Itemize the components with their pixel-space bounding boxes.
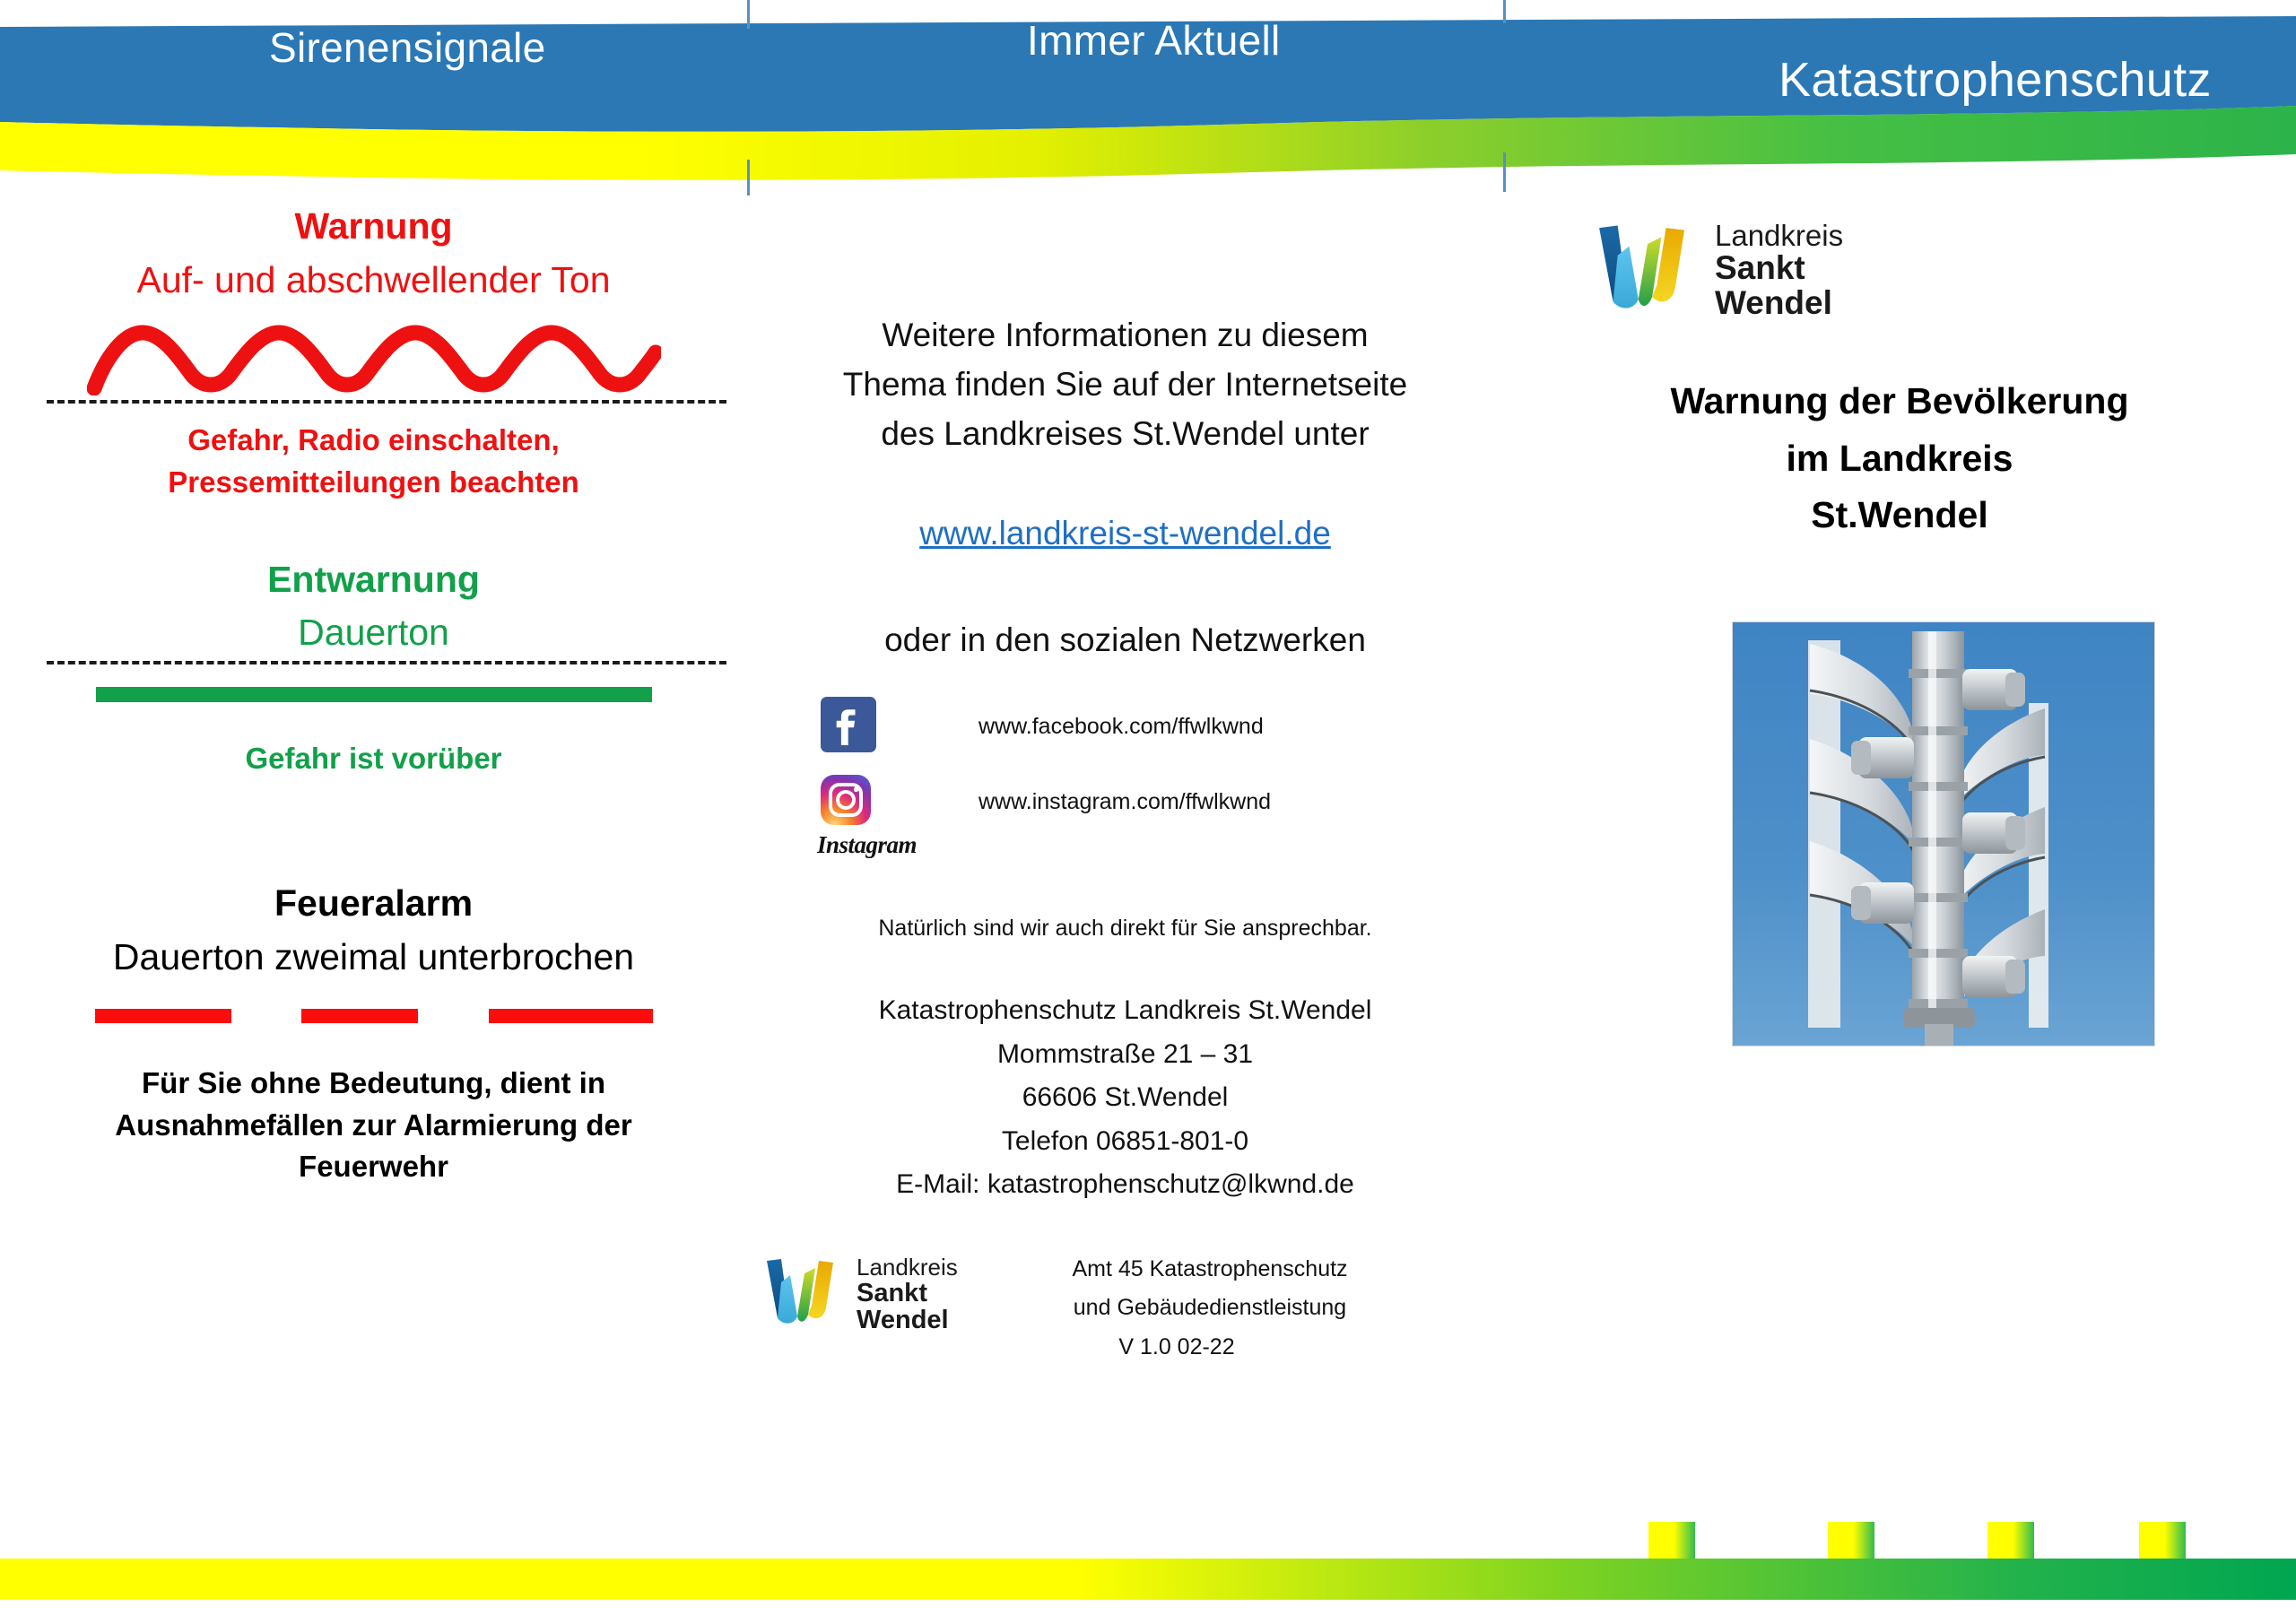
siren-photo bbox=[1732, 621, 2155, 1046]
red-sine-wave-graphic bbox=[0, 324, 747, 400]
logo-line-landkreis: Landkreis bbox=[857, 1255, 958, 1280]
signal-desc-feueralarm-l1: Für Sie ohne Bedeutung, dient in bbox=[0, 1063, 747, 1105]
signal-title-feueralarm: Feueralarm bbox=[0, 881, 747, 925]
right-column-cover: Landkreis Sankt Wendel Warnung der Bevöl… bbox=[1503, 188, 2296, 544]
address-line-city: 66606 St.Wendel bbox=[747, 1076, 1503, 1120]
instagram-icon[interactable] bbox=[821, 775, 871, 829]
info-lead-line-3: des Landkreises St.Wendel unter bbox=[747, 410, 1503, 459]
address-line-street: Mommstraße 21 – 31 bbox=[747, 1033, 1503, 1077]
version-text: V 1.0 02-22 bbox=[1031, 1330, 1323, 1365]
left-column-sirenensignale: Warnung Auf- und abschwellender Ton Gefa… bbox=[0, 188, 747, 1188]
section-divider-2 bbox=[47, 661, 726, 664]
footer-block-2 bbox=[1828, 1522, 1874, 1559]
landkreis-logo-large: Landkreis Sankt Wendel bbox=[1595, 220, 2296, 321]
facebook-icon[interactable] bbox=[821, 697, 876, 757]
logo-line-landkreis: Landkreis bbox=[1715, 221, 1843, 251]
logo-line-sankt: Sankt bbox=[857, 1280, 958, 1307]
instagram-url[interactable]: www.instagram.com/ffwlkwnd bbox=[978, 789, 1271, 815]
column-guide-right-bot bbox=[1503, 152, 1506, 192]
banner-title-sirenensignale: Sirenensignale bbox=[269, 23, 546, 72]
middle-column-info: Weitere Informationen zu diesem Thema fi… bbox=[747, 188, 1503, 1365]
brochure-page: Sirenensignale Immer Aktuell Katastrophe… bbox=[0, 0, 2296, 1624]
banner-title-katastrophenschutz: Katastrophenschutz bbox=[1779, 52, 2212, 108]
department-line-2: und Gebäudedienstleistung bbox=[1031, 1290, 1389, 1325]
signal-desc-feueralarm-l3: Feuerwehr bbox=[0, 1146, 747, 1188]
logo-text-block: Landkreis Sankt Wendel bbox=[857, 1255, 958, 1333]
facebook-url[interactable]: www.facebook.com/ffwlkwnd bbox=[978, 714, 1264, 740]
department-line-1: Amt 45 Katastrophenschutz bbox=[1031, 1252, 1389, 1287]
signal-block-warnung: Warnung Auf- und abschwellender Ton Gefa… bbox=[0, 204, 747, 504]
banner-title-immer-aktuell: Immer Aktuell bbox=[1027, 16, 1281, 65]
signal-title-entwarnung: Entwarnung bbox=[0, 558, 747, 601]
red-bar-segment bbox=[489, 1009, 653, 1023]
address-line-email[interactable]: E-Mail: katastrophenschutz@lkwnd.de bbox=[747, 1163, 1503, 1207]
website-link[interactable]: www.landkreis-st-wendel.de bbox=[747, 515, 1503, 552]
red-interrupted-bars-graphic bbox=[95, 1009, 653, 1023]
section-divider-1 bbox=[47, 400, 726, 404]
social-row-instagram[interactable]: www.instagram.com/ffwlkwnd bbox=[747, 775, 1503, 829]
logo-line-sankt: Sankt bbox=[1715, 251, 1843, 285]
info-lead-line-1: Weitere Informationen zu diesem bbox=[747, 311, 1503, 360]
column-guide-right-top bbox=[1503, 0, 1506, 23]
social-row-facebook[interactable]: www.facebook.com/ffwlkwnd bbox=[747, 697, 1503, 757]
column-guide-left-top bbox=[747, 0, 750, 29]
address-line-organisation: Katastrophenschutz Landkreis St.Wendel bbox=[747, 989, 1503, 1033]
red-bar-segment bbox=[95, 1009, 231, 1023]
green-solid-bar-graphic bbox=[96, 687, 652, 702]
signal-block-entwarnung: Entwarnung Dauerton Gefahr ist vorüber bbox=[0, 558, 747, 779]
instagram-wordmark: Instagram bbox=[747, 831, 1503, 859]
cover-title: Warnung der Bevölkerung im Landkreis St.… bbox=[1503, 373, 2296, 544]
signal-subtitle-entwarnung: Dauerton bbox=[0, 610, 747, 655]
w-ribbon-logo-mark bbox=[1595, 220, 1700, 321]
red-bar-segment bbox=[301, 1009, 418, 1023]
department-info: Amt 45 Katastrophenschutz und Gebäudedie… bbox=[1031, 1252, 1389, 1365]
signal-desc-feueralarm-l2: Ausnahmefällen zur Alarmierung der bbox=[0, 1105, 747, 1147]
contact-intro-text: Natürlich sind wir auch direkt für Sie a… bbox=[747, 911, 1503, 946]
signal-desc-warnung-l2: Pressemitteilungen beachten bbox=[0, 462, 747, 504]
logo-line-wendel: Wendel bbox=[857, 1307, 958, 1333]
signal-desc-warnung-l1: Gefahr, Radio einschalten, bbox=[0, 420, 747, 462]
landkreis-logo-small: Landkreis Sankt Wendel bbox=[763, 1255, 958, 1333]
footer-block-1 bbox=[1648, 1522, 1695, 1559]
logo-line-wendel: Wendel bbox=[1715, 286, 1843, 320]
cover-title-line-3: St.Wendel bbox=[1534, 487, 2266, 544]
signal-block-feueralarm: Feueralarm Dauerton zweimal unterbrochen… bbox=[0, 881, 747, 1188]
w-ribbon-logo-mark bbox=[763, 1255, 846, 1333]
info-lead-line-2: Thema finden Sie auf der Internetseite bbox=[747, 360, 1503, 410]
address-line-phone: Telefon 06851-801-0 bbox=[747, 1120, 1503, 1164]
logo-text-block: Landkreis Sankt Wendel bbox=[1715, 221, 1843, 320]
footer-block-4 bbox=[2139, 1522, 2186, 1559]
signal-subtitle-feueralarm: Dauerton zweimal unterbrochen bbox=[0, 934, 747, 979]
middle-footer-row: Landkreis Sankt Wendel Amt 45 Katastroph… bbox=[747, 1248, 1503, 1365]
footer-gradient-bar bbox=[0, 1559, 2296, 1600]
cover-title-line-1: Warnung der Bevölkerung bbox=[1534, 373, 2266, 430]
signal-subtitle-warnung: Auf- und abschwellender Ton bbox=[0, 257, 747, 302]
contact-address-block: Katastrophenschutz Landkreis St.Wendel M… bbox=[747, 989, 1503, 1207]
social-networks-heading: oder in den sozialen Netzwerken bbox=[747, 621, 1503, 659]
signal-desc-entwarnung: Gefahr ist vorüber bbox=[0, 738, 747, 780]
signal-title-warnung: Warnung bbox=[0, 204, 747, 248]
footer-block-3 bbox=[1987, 1522, 2034, 1559]
info-lead-paragraph: Weitere Informationen zu diesem Thema fi… bbox=[747, 311, 1503, 458]
cover-title-line-2: im Landkreis bbox=[1534, 430, 2266, 488]
